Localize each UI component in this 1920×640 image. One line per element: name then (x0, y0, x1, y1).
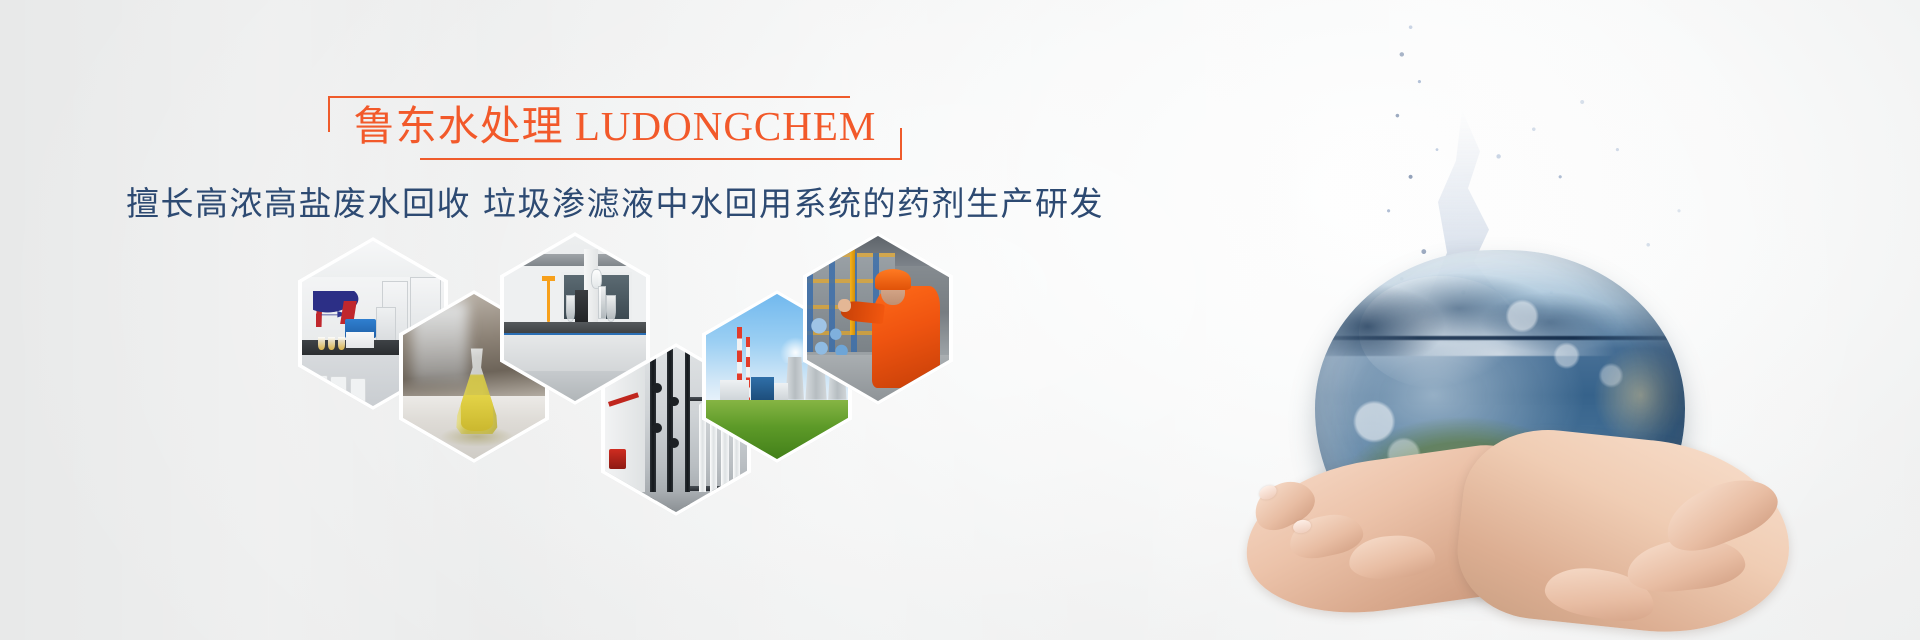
cupped-hands (1245, 420, 1805, 640)
water-globe-artwork (1245, 0, 1920, 640)
brand-title: 鲁东水处理 LUDONGCHEM (354, 102, 877, 150)
hero-banner: 鲁东水处理 LUDONGCHEM 擅长高浓高盐废水回收 垃圾渗滤液中水回用系统的… (0, 0, 1920, 640)
hexagon-photo-cluster (0, 0, 1230, 640)
